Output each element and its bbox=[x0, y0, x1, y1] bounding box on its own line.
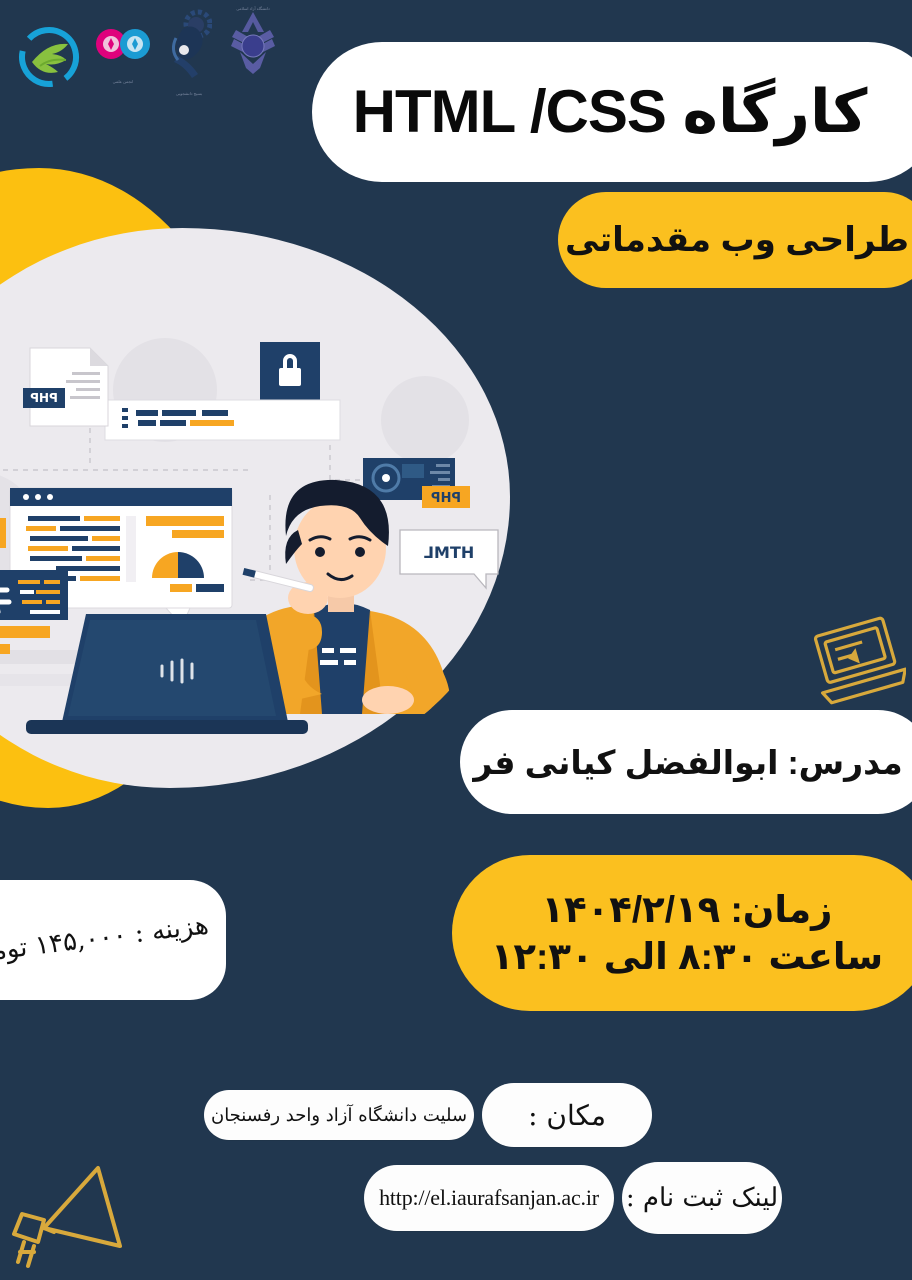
registration-url[interactable]: http://el.iaurafsanjan.ac.ir bbox=[364, 1165, 614, 1231]
laptop-icon bbox=[810, 612, 906, 716]
page-title: کارگاه HTML /CSS bbox=[353, 77, 898, 147]
title-panel: کارگاه HTML /CSS bbox=[312, 42, 912, 182]
event-hours: ساعت ۸:۳۰ الی ۱۲:۳۰ bbox=[491, 934, 893, 979]
infinity-logo-caption: انجمن علمی bbox=[94, 79, 152, 84]
instructor-panel: مدرس: ابوالفضل کیانی فر bbox=[460, 710, 912, 814]
instructor-name: مدرس: ابوالفضل کیانی فر bbox=[473, 743, 912, 782]
subtitle-panel: طراحی وب مقدماتی bbox=[558, 192, 912, 288]
registration-row: لینک ثبت نام : http://el.iaurafsanjan.ac… bbox=[364, 1162, 782, 1234]
svg-text:HTML: HTML bbox=[424, 543, 474, 562]
poster-canvas: PHP PHP HTML bbox=[0, 0, 912, 1280]
fee-panel: هزینه : ۱۴۵,۰۰۰ تومان bbox=[0, 880, 226, 1000]
institution-logos: دانشگاه آزاد اسلامی بسیج دانشجویی bbox=[18, 6, 280, 88]
time-panel: زمان: ۱۴۰۴/۲/۱۹ ساعت ۸:۳۰ الی ۱۲:۳۰ bbox=[452, 855, 912, 1011]
fee-amount: هزینه : ۱۴۵,۰۰۰ تومان bbox=[0, 910, 210, 970]
student-basij-logo: بسیج دانشجویی bbox=[166, 8, 212, 88]
registration-label: لینک ثبت نام : bbox=[622, 1162, 782, 1234]
developer-illustration: PHP PHP HTML bbox=[0, 230, 520, 790]
basij-logo-caption: بسیج دانشجویی bbox=[166, 91, 212, 96]
svg-text:PHP: PHP bbox=[30, 391, 58, 405]
megaphone-icon bbox=[10, 1158, 150, 1280]
svg-text:PHP: PHP bbox=[431, 491, 461, 506]
islamic-azad-university-logo: دانشگاه آزاد اسلامی bbox=[226, 6, 280, 88]
place-label: مکان : bbox=[482, 1083, 652, 1147]
place-row: مکان : سلیت دانشگاه آزاد واحد رفسنجان bbox=[204, 1083, 652, 1147]
place-value: سلیت دانشگاه آزاد واحد رفسنجان bbox=[204, 1090, 474, 1140]
infinity-association-logo: انجمن علمی bbox=[94, 22, 152, 88]
subtitle: طراحی وب مقدماتی bbox=[565, 220, 912, 260]
green-wing-logo bbox=[18, 26, 80, 88]
event-date: زمان: ۱۴۰۴/۲/۱۹ bbox=[542, 887, 843, 932]
